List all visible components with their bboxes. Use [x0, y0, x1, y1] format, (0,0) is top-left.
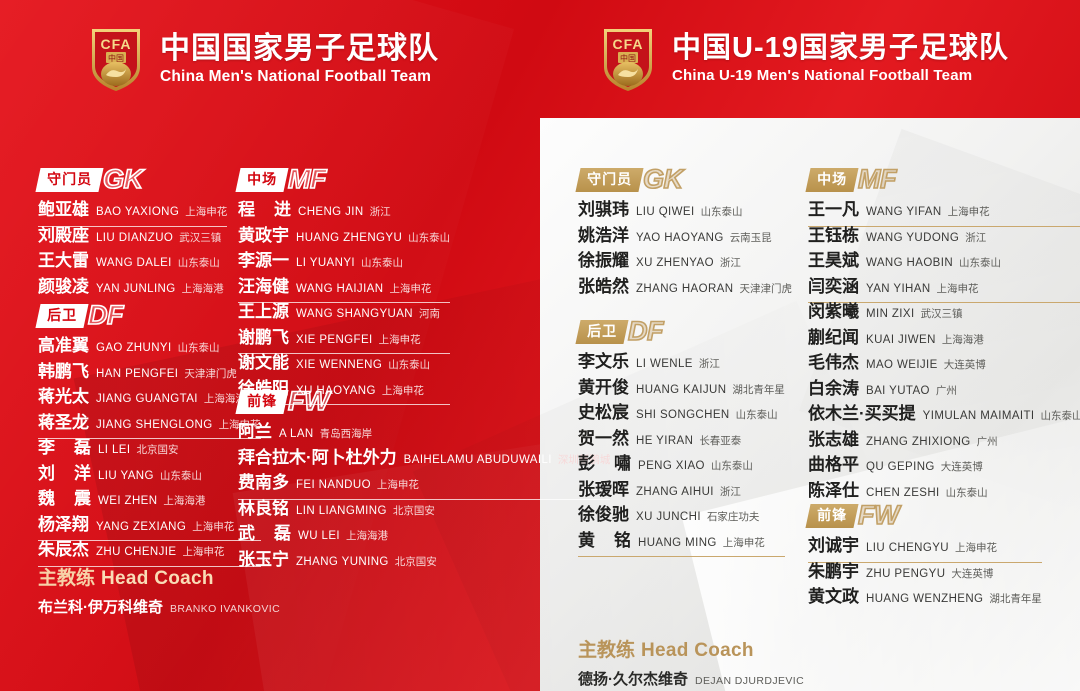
player-row: 曲格平QU GEPING大连英博 [808, 456, 1080, 482]
cfa-crest-icon: CFA 中国 [88, 26, 144, 92]
u19-coach-name: 德扬·久尔杰维奇DEJAN DJURDJEVIC [578, 668, 804, 689]
senior-coach-title: 主教练Head Coach [38, 568, 280, 591]
player-club: 山东泰山 [388, 357, 430, 372]
player-club: 上海申花 [182, 544, 224, 559]
player-row: 蒋光太JIANG GUANGTAI上海海港 [38, 388, 261, 414]
u19-section-gk: 守门员 GK 刘骐玮LIU QIWEI山东泰山姚浩洋YAO HAOYANG云南玉… [578, 166, 792, 303]
senior-section-gk: 守门员 GK 鲍亚雄BAO YAXIONG上海申花刘殿座LIU DIANZUO武… [38, 166, 227, 303]
section-abbr-df: DF [628, 319, 663, 344]
player-club: 武汉三镇 [921, 306, 963, 321]
section-label-df: 后卫 [47, 306, 77, 325]
player-name-cn: 刘诚宇 [808, 537, 859, 554]
player-row: 李源一LI YUANYI山东泰山 [238, 252, 450, 278]
roster-graphic: CFA 中国 中国国家男子足球队 China Men's National Fo… [0, 0, 1080, 691]
player-name-cn: 姚浩洋 [578, 227, 629, 244]
player-name-pinyin: WANG YUDONG [866, 232, 959, 244]
player-club: 上海申花 [377, 477, 419, 492]
u19-coach-name-pinyin: DEJAN DJURDJEVIC [695, 675, 804, 687]
player-row: 王上源WANG SHANGYUAN河南 [238, 303, 450, 329]
section-badge-df: 后卫 DF [578, 318, 785, 344]
player-name-pinyin: YAO HAOYANG [636, 232, 724, 244]
player-name-cn: 鲍亚雄 [38, 201, 89, 218]
player-club: 湖北青年星 [989, 591, 1042, 606]
player-club: 上海申花 [379, 332, 421, 347]
section-abbr-fw: FW [288, 389, 329, 414]
player-club: 山东泰山 [361, 255, 403, 270]
svg-text:中国: 中国 [620, 53, 636, 63]
player-row: 黄铭HUANG MING上海申花 [578, 532, 785, 558]
player-name-pinyin: WANG HAIJIAN [296, 283, 383, 295]
u19-section-mf: 中场 MF 王一凡WANG YIFAN上海申花王钰栋WANG YUDONG浙江王… [808, 166, 1080, 507]
player-name-pinyin: LI YUANYI [296, 257, 355, 269]
senior-head-coach: 主教练Head Coach 布兰科·伊万科维奇BRANKO IVANKOVIC [38, 568, 280, 617]
player-name-cn: 彭嘯 [578, 455, 631, 472]
svg-text:CFA: CFA [613, 36, 644, 52]
section-badge-gk: 守门员 GK [38, 166, 227, 192]
player-name-pinyin: XU JUNCHI [636, 511, 701, 523]
player-name-cn: 依木兰·买买提 [808, 405, 916, 422]
player-name-pinyin: JIANG GUANGTAI [96, 393, 198, 405]
player-name-cn: 毛伟杰 [808, 354, 859, 371]
player-row: 徐俊驰XU JUNCHI石家庄功夫 [578, 506, 785, 532]
player-name-cn: 张皓然 [578, 278, 629, 295]
player-name-cn: 李源一 [238, 252, 289, 269]
player-name-cn: 拜合拉木·阿卜杜外力 [238, 449, 397, 466]
player-name-pinyin: XU ZHENYAO [636, 257, 714, 269]
player-club: 浙江 [965, 230, 986, 245]
player-name-pinyin: XIE PENGFEI [296, 334, 373, 346]
player-name-cn: 朱辰杰 [38, 541, 89, 558]
player-name-cn: 张玉宁 [238, 551, 289, 568]
player-name-pinyin: ZHANG AIHUI [636, 486, 714, 498]
player-row: 张志雄ZHANG ZHIXIONG广州 [808, 431, 1080, 457]
player-club: 山东泰山 [946, 485, 988, 500]
player-row: 颜骏凌YAN JUNLING上海海港 [38, 278, 227, 304]
u19-section-fw: 前锋 FW 刘诚宇LIU CHENGYU上海申花朱鹏宇ZHU PENGYU大连英… [808, 502, 1042, 614]
player-name-cn: 谢鹏飞 [238, 329, 289, 346]
senior-mf-list: 程进CHENG JIN浙江黄政宇HUANG ZHENGYU山东泰山李源一LI Y… [238, 201, 450, 405]
player-name-cn: 颜骏凌 [38, 278, 89, 295]
player-name-pinyin: LI WENLE [636, 358, 693, 370]
player-name-cn: 王大雷 [38, 252, 89, 269]
player-club: 广州 [977, 434, 998, 449]
player-name-cn: 程进 [238, 201, 291, 218]
player-row: 黄开俊HUANG KAIJUN湖北青年星 [578, 379, 785, 405]
senior-gk-list: 鲍亚雄BAO YAXIONG上海申花刘殿座LIU DIANZUO武汉三镇王大雷W… [38, 201, 227, 303]
section-badge-df: 后卫 DF [38, 302, 261, 328]
player-name-pinyin: PENG XIAO [638, 460, 705, 472]
player-name-cn: 刘殿座 [38, 227, 89, 244]
cfa-crest-icon: CFA 中国 [600, 26, 656, 92]
svg-text:中国: 中国 [108, 53, 124, 63]
player-club: 山东泰山 [408, 230, 450, 245]
player-club: 浙江 [370, 204, 391, 219]
player-row: 谢鹏飞XIE PENGFEI上海申花 [238, 329, 450, 355]
player-name-pinyin: LI LEI [98, 444, 130, 456]
u19-team-title-en: China U-19 Men's National Football Team [672, 67, 1009, 86]
player-name-cn: 黄铭 [578, 532, 631, 549]
player-name-cn: 刘洋 [38, 465, 91, 482]
player-name-cn: 曲格平 [808, 456, 859, 473]
senior-coach-title-en: Head Coach [101, 568, 214, 589]
player-name-cn: 闫奕涵 [808, 278, 859, 295]
player-name-pinyin: MIN ZIXI [866, 308, 915, 320]
u19-coach-title-cn: 主教练 [578, 640, 635, 661]
player-row: 白余涛BAI YUTAO广州 [808, 380, 1080, 406]
player-name-pinyin: LIN LIANGMING [296, 505, 387, 517]
player-name-pinyin: WANG HAOBIN [866, 257, 953, 269]
player-club: 北京国安 [395, 554, 437, 569]
player-name-pinyin: LIU QIWEI [636, 206, 695, 218]
player-name-pinyin: BAIHELAMU ABUDUWAILI [404, 454, 552, 466]
player-row: 林良铭LIN LIANGMING北京国安 [238, 500, 610, 526]
section-label-mf: 中场 [247, 170, 277, 189]
player-name-cn: 韩鹏飞 [38, 363, 89, 380]
section-badge-fw: 前锋 FW [238, 388, 610, 414]
senior-coach-name-cn: 布兰科·伊万科维奇 [38, 599, 163, 616]
player-club: 河南 [419, 306, 440, 321]
u19-coach-name-cn: 德扬·久尔杰维奇 [578, 671, 688, 688]
player-name-pinyin: FEI NANDUO [296, 479, 371, 491]
player-name-pinyin: CHEN ZESHI [866, 487, 940, 499]
player-name-cn: 王上源 [238, 303, 289, 320]
section-abbr-df: DF [88, 303, 123, 328]
player-row: 蒯纪闻KUAI JIWEN上海海港 [808, 329, 1080, 355]
player-name-pinyin: YAN YIHAN [866, 283, 931, 295]
player-name-cn: 高准翼 [38, 337, 89, 354]
player-club: 山东泰山 [711, 458, 753, 473]
player-name-pinyin: CHENG JIN [298, 206, 364, 218]
section-label-gk: 守门员 [47, 170, 92, 189]
player-name-pinyin: WEI ZHEN [98, 495, 157, 507]
svg-text:CFA: CFA [101, 36, 132, 52]
player-club: 山东泰山 [178, 255, 220, 270]
section-badge-mf: 中场 MF [808, 166, 1080, 192]
player-row: 李磊LI LEI北京国安 [38, 439, 261, 465]
player-name-pinyin: HAN PENGFEI [96, 368, 178, 380]
section-label-gk: 守门员 [587, 170, 632, 189]
player-name-cn: 史松宸 [578, 404, 629, 421]
player-name-pinyin: ZHANG YUNING [296, 556, 389, 568]
u19-mf-list: 王一凡WANG YIFAN上海申花王钰栋WANG YUDONG浙江王昊斌WANG… [808, 201, 1080, 507]
player-name-cn: 王钰栋 [808, 227, 859, 244]
player-row: 朱辰杰ZHU CHENJIE上海申花 [38, 541, 261, 567]
player-row: 贺一然HE YIRAN长春亚泰 [578, 430, 785, 456]
senior-df-list: 高准翼GAO ZHUNYI山东泰山韩鹏飞HAN PENGFEI天津津门虎蒋光太J… [38, 337, 261, 567]
player-name-cn: 武磊 [238, 525, 291, 542]
senior-team-title-block: 中国国家男子足球队 China Men's National Football … [160, 32, 439, 86]
player-name-pinyin: YAN JUNLING [96, 283, 176, 295]
player-row: 王钰栋WANG YUDONG浙江 [808, 227, 1080, 253]
player-name-pinyin: WU LEI [298, 530, 340, 542]
player-name-cn: 蒋圣龙 [38, 414, 89, 431]
player-row: 蒋圣龙JIANG SHENGLONG上海申花 [38, 414, 261, 440]
player-row: 程进CHENG JIN浙江 [238, 201, 450, 227]
player-club: 上海海港 [163, 493, 205, 508]
player-club: 上海申花 [948, 204, 990, 219]
player-row: 谢文能XIE WENNENG山东泰山 [238, 354, 450, 380]
player-row: 拜合拉木·阿卜杜外力BAIHELAMU ABUDUWAILI深圳新鹏城 [238, 449, 610, 475]
player-name-cn: 李磊 [38, 439, 91, 456]
player-name-pinyin: XIE WENNENG [296, 359, 382, 371]
u19-section-df: 后卫 DF 李文乐LI WENLE浙江黄开俊HUANG KAIJUN湖北青年星史… [578, 318, 785, 557]
player-club: 北京国安 [393, 503, 435, 518]
player-name-pinyin: ZHANG HAORAN [636, 283, 733, 295]
player-row: 费南多FEI NANDUO上海申花 [238, 474, 610, 500]
player-club: 天津津门虎 [739, 281, 792, 296]
senior-section-fw: 前锋 FW 阿兰A LAN青岛西海岸拜合拉木·阿卜杜外力BAIHELAMU AB… [238, 388, 610, 576]
player-club: 上海申花 [955, 540, 997, 555]
player-row: 毛伟杰MAO WEIJIE大连英博 [808, 354, 1080, 380]
player-name-cn: 徐俊驰 [578, 506, 629, 523]
player-name-cn: 张瑷晖 [578, 481, 629, 498]
player-club: 山东泰山 [160, 468, 202, 483]
player-name-cn: 费南多 [238, 474, 289, 491]
player-row: 彭嘯PENG XIAO山东泰山 [578, 455, 785, 481]
player-name-cn: 阿兰 [238, 423, 272, 440]
player-row: 闫奕涵YAN YIHAN上海申花 [808, 278, 1080, 304]
player-row: 姚浩洋YAO HAOYANG云南玉昆 [578, 227, 792, 253]
player-name-pinyin: SHI SONGCHEN [636, 409, 730, 421]
section-abbr-fw: FW [858, 503, 899, 528]
senior-fw-list: 阿兰A LAN青岛西海岸拜合拉木·阿卜杜外力BAIHELAMU ABUDUWAI… [238, 423, 610, 576]
player-club: 上海海港 [942, 332, 984, 347]
player-name-pinyin: MAO WEIJIE [866, 359, 938, 371]
player-club: 湖北青年星 [732, 382, 785, 397]
player-name-pinyin: ZHU CHENJIE [96, 546, 176, 558]
u19-head-coach: 主教练Head Coach 德扬·久尔杰维奇DEJAN DJURDJEVIC [578, 640, 804, 689]
u19-team-header: CFA 中国 中国U-19国家男子足球队 China U-19 Men's Na… [540, 0, 1080, 118]
player-name-cn: 张志雄 [808, 431, 859, 448]
player-name-cn: 黄文政 [808, 588, 859, 605]
u19-coach-title-en: Head Coach [641, 640, 754, 661]
player-club: 上海申花 [937, 281, 979, 296]
player-name-cn: 王一凡 [808, 201, 859, 218]
player-club: 山东泰山 [701, 204, 743, 219]
senior-team-header: CFA 中国 中国国家男子足球队 China Men's National Fo… [0, 0, 540, 118]
player-club: 上海海港 [182, 281, 224, 296]
player-name-pinyin: YANG ZEXIANG [96, 521, 186, 533]
player-name-cn: 贺一然 [578, 430, 629, 447]
player-name-cn: 白余涛 [808, 380, 859, 397]
section-label-df: 后卫 [587, 322, 617, 341]
u19-df-list: 李文乐LI WENLE浙江黄开俊HUANG KAIJUN湖北青年星史松宸SHI … [578, 353, 785, 557]
section-label-mf: 中场 [817, 170, 847, 189]
player-name-pinyin: HUANG WENZHENG [866, 593, 983, 605]
section-badge-gk: 守门员 GK [578, 166, 792, 192]
player-row: 韩鹏飞HAN PENGFEI天津津门虎 [38, 363, 261, 389]
player-name-cn: 蒯纪闻 [808, 329, 859, 346]
player-club: 浙江 [720, 255, 741, 270]
player-row: 刘骐玮LIU QIWEI山东泰山 [578, 201, 792, 227]
player-club: 山东泰山 [1041, 408, 1080, 423]
player-row: 杨泽翔YANG ZEXIANG上海申花 [38, 516, 261, 542]
section-badge-mf: 中场 MF [238, 166, 450, 192]
player-row: 朱鹏宇ZHU PENGYU大连英博 [808, 563, 1042, 589]
player-name-pinyin: JIANG SHENGLONG [96, 419, 213, 431]
player-row: 王昊斌WANG HAOBIN山东泰山 [808, 252, 1080, 278]
player-club: 大连英博 [944, 357, 986, 372]
player-name-cn: 李文乐 [578, 353, 629, 370]
section-abbr-mf: MF [858, 167, 896, 192]
player-club: 山东泰山 [736, 407, 778, 422]
player-name-pinyin: ZHU PENGYU [866, 568, 945, 580]
player-row: 张皓然ZHANG HAORAN天津津门虎 [578, 278, 792, 304]
player-row: 张瑷晖ZHANG AIHUI浙江 [578, 481, 785, 507]
player-club: 广州 [936, 383, 957, 398]
senior-team-title-cn: 中国国家男子足球队 [160, 32, 439, 65]
player-name-cn: 蒋光太 [38, 388, 89, 405]
senior-coach-title-cn: 主教练 [38, 568, 95, 589]
player-name-cn: 徐振耀 [578, 252, 629, 269]
player-club: 大连英博 [951, 566, 993, 581]
player-row: 张玉宁ZHANG YUNING北京国安 [238, 551, 610, 577]
player-row: 依木兰·买买提YIMULAN MAIMAITI山东泰山 [808, 405, 1080, 431]
player-name-cn: 黄开俊 [578, 379, 629, 396]
player-club: 长春亚泰 [699, 433, 741, 448]
player-name-pinyin: LIU CHENGYU [866, 542, 949, 554]
player-row: 王一凡WANG YIFAN上海申花 [808, 201, 1080, 227]
section-abbr-mf: MF [288, 167, 326, 192]
player-club: 云南玉昆 [730, 230, 772, 245]
section-label-fw: 前锋 [817, 506, 847, 525]
player-row: 魏震WEI ZHEN上海海港 [38, 490, 261, 516]
player-name-cn: 汪海健 [238, 278, 289, 295]
senior-team-title-en: China Men's National Football Team [160, 67, 439, 86]
player-club: 上海申花 [723, 535, 765, 550]
senior-section-mf: 中场 MF 程进CHENG JIN浙江黄政宇HUANG ZHENGYU山东泰山李… [238, 166, 450, 405]
player-name-pinyin: WANG YIFAN [866, 206, 942, 218]
player-club: 上海海港 [346, 528, 388, 543]
section-abbr-gk: GK [643, 167, 683, 192]
player-club: 浙江 [699, 356, 720, 371]
player-row: 刘洋LIU YANG山东泰山 [38, 465, 261, 491]
player-name-cn: 刘骐玮 [578, 201, 629, 218]
player-name-pinyin: HE YIRAN [636, 435, 693, 447]
player-name-cn: 闵紫曦 [808, 303, 859, 320]
player-row: 阿兰A LAN青岛西海岸 [238, 423, 610, 449]
u19-gk-list: 刘骐玮LIU QIWEI山东泰山姚浩洋YAO HAOYANG云南玉昆徐振耀XU … [578, 201, 792, 303]
player-row: 黄文政HUANG WENZHENG湖北青年星 [808, 588, 1042, 614]
player-club: 大连英博 [941, 459, 983, 474]
player-name-cn: 魏震 [38, 490, 91, 507]
section-label-fw: 前锋 [247, 392, 277, 411]
player-name-cn: 林良铭 [238, 500, 289, 517]
player-name-pinyin: LIU DIANZUO [96, 232, 173, 244]
player-club: 山东泰山 [959, 255, 1001, 270]
player-name-cn: 谢文能 [238, 354, 289, 371]
player-row: 王大雷WANG DALEI山东泰山 [38, 252, 227, 278]
player-row: 鲍亚雄BAO YAXIONG上海申花 [38, 201, 227, 227]
player-name-pinyin: ZHANG ZHIXIONG [866, 436, 971, 448]
player-club: 上海申花 [185, 204, 227, 219]
player-row: 高准翼GAO ZHUNYI山东泰山 [38, 337, 261, 363]
player-name-cn: 杨泽翔 [38, 516, 89, 533]
player-name-cn: 陈泽仕 [808, 482, 859, 499]
player-club: 石家庄功夫 [707, 509, 760, 524]
player-row: 刘殿座LIU DIANZUO武汉三镇 [38, 227, 227, 253]
player-name-pinyin: WANG SHANGYUAN [296, 308, 413, 320]
player-name-cn: 黄政宇 [238, 227, 289, 244]
player-name-pinyin: LIU YANG [98, 470, 154, 482]
player-name-pinyin: BAO YAXIONG [96, 206, 179, 218]
senior-coach-name-pinyin: BRANKO IVANKOVIC [170, 603, 280, 615]
player-name-cn: 王昊斌 [808, 252, 859, 269]
player-row: 刘诚宇LIU CHENGYU上海申花 [808, 537, 1042, 563]
player-row: 闵紫曦MIN ZIXI武汉三镇 [808, 303, 1080, 329]
player-name-pinyin: YIMULAN MAIMAITI [923, 410, 1035, 422]
player-club: 北京国安 [136, 442, 178, 457]
senior-coach-name: 布兰科·伊万科维奇BRANKO IVANKOVIC [38, 596, 280, 617]
player-name-pinyin: KUAI JIWEN [866, 334, 936, 346]
player-row: 武磊WU LEI上海海港 [238, 525, 610, 551]
player-club: 上海申花 [192, 519, 234, 534]
player-name-pinyin: GAO ZHUNYI [96, 342, 172, 354]
player-row: 汪海健WANG HAIJIAN上海申花 [238, 278, 450, 304]
player-name-pinyin: HUANG MING [638, 537, 717, 549]
player-name-pinyin: QU GEPING [866, 461, 935, 473]
player-club: 青岛西海岸 [320, 426, 373, 441]
player-name-pinyin: WANG DALEI [96, 257, 172, 269]
player-club: 武汉三镇 [179, 230, 221, 245]
section-abbr-gk: GK [103, 167, 143, 192]
player-row: 徐振耀XU ZHENYAO浙江 [578, 252, 792, 278]
player-club: 天津津门虎 [184, 366, 237, 381]
player-club: 上海申花 [389, 281, 431, 296]
player-name-pinyin: BAI YUTAO [866, 385, 930, 397]
player-club: 浙江 [720, 484, 741, 499]
player-name-pinyin: A LAN [279, 428, 314, 440]
senior-section-df: 后卫 DF 高准翼GAO ZHUNYI山东泰山韩鹏飞HAN PENGFEI天津津… [38, 302, 261, 567]
player-name-pinyin: HUANG ZHENGYU [296, 232, 402, 244]
section-badge-fw: 前锋 FW [808, 502, 1042, 528]
player-name-pinyin: HUANG KAIJUN [636, 384, 726, 396]
u19-fw-list: 刘诚宇LIU CHENGYU上海申花朱鹏宇ZHU PENGYU大连英博黄文政HU… [808, 537, 1042, 614]
u19-coach-title: 主教练Head Coach [578, 640, 804, 663]
player-name-cn: 朱鹏宇 [808, 563, 859, 580]
u19-team-title-block: 中国U-19国家男子足球队 China U-19 Men's National … [672, 33, 1009, 86]
player-row: 黄政宇HUANG ZHENGYU山东泰山 [238, 227, 450, 253]
player-row: 史松宸SHI SONGCHEN山东泰山 [578, 404, 785, 430]
player-row: 李文乐LI WENLE浙江 [578, 353, 785, 379]
player-club: 山东泰山 [178, 340, 220, 355]
u19-team-title-cn: 中国U-19国家男子足球队 [672, 33, 1009, 65]
